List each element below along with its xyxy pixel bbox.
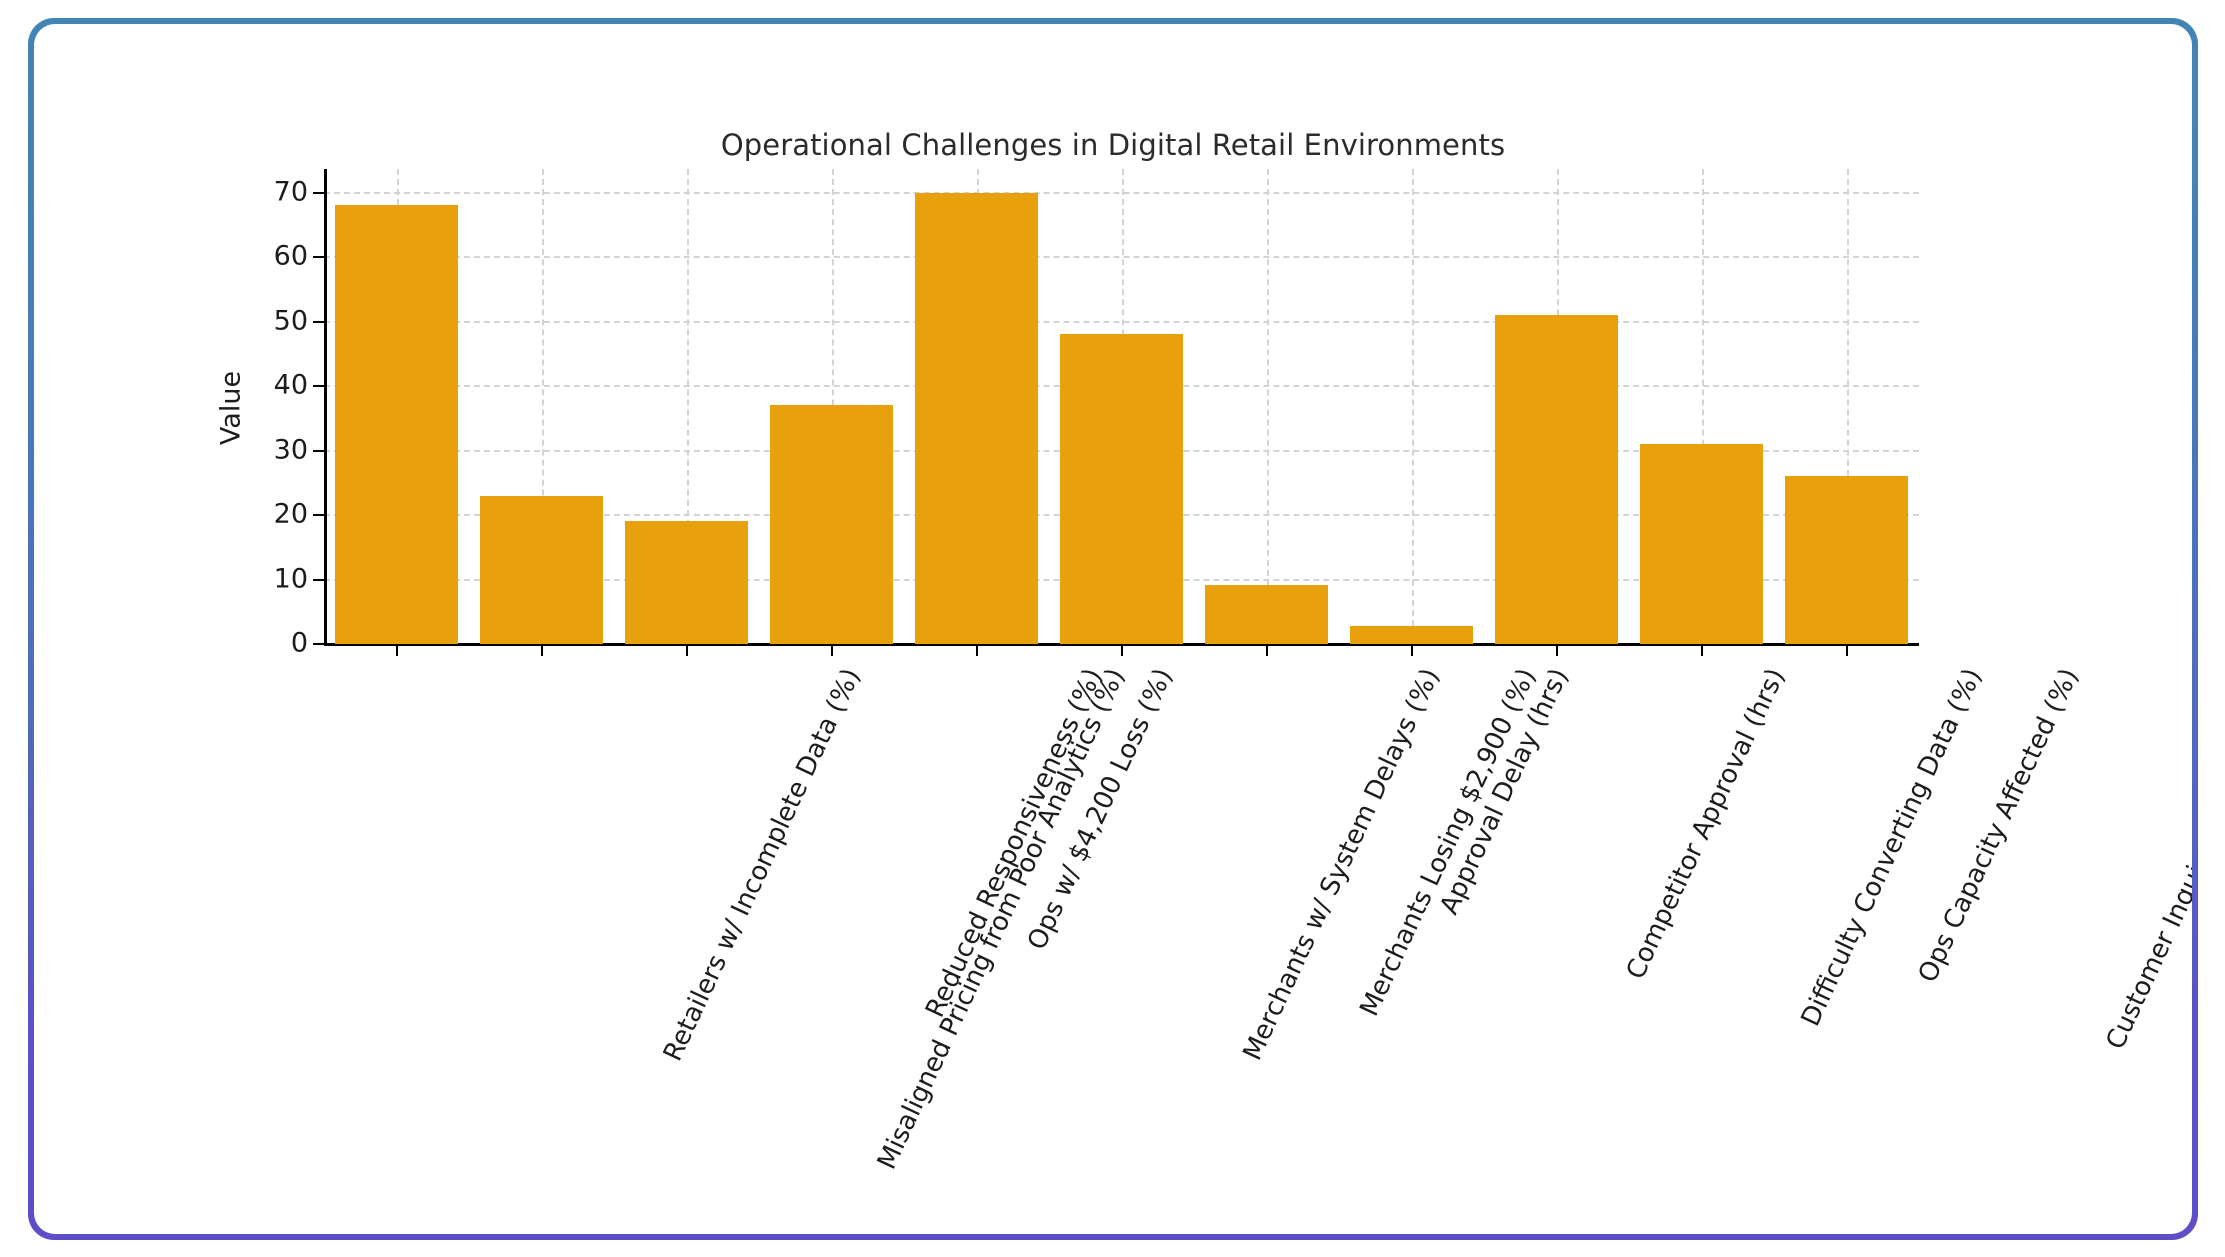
y-axis-tick-mark: [313, 192, 324, 194]
y-axis-tick-label: 40: [274, 370, 308, 401]
y-axis-tick-mark: [313, 256, 324, 258]
x-axis-tick-label: Difficulty Converting Data (%): [1795, 664, 1987, 1031]
x-axis-tick-mark: [1121, 646, 1123, 656]
x-axis-tick-label: Merchants w/ System Delays (%): [1237, 664, 1445, 1065]
y-axis-tick-label: 70: [274, 176, 308, 207]
y-axis-tick-label: 30: [274, 434, 308, 465]
bar[interactable]: [1350, 626, 1474, 644]
y-axis-tick-label: 10: [274, 563, 308, 594]
x-axis-tick-mark: [541, 646, 543, 656]
y-axis-tick-mark: [313, 385, 324, 387]
bar[interactable]: [1205, 585, 1329, 644]
x-axis-tick-mark: [976, 646, 978, 656]
x-axis-tick-mark: [831, 646, 833, 656]
x-axis-tick-mark: [1411, 646, 1413, 656]
y-axis-tick-label: 50: [274, 305, 308, 336]
x-axis-tick-mark: [1556, 646, 1558, 656]
y-axis-tick-label: 0: [291, 628, 308, 659]
x-axis-tick-mark: [1701, 646, 1703, 656]
x-axis-tick-mark: [1266, 646, 1268, 656]
y-axis-tick-label: 20: [274, 499, 308, 530]
window-frame: Operational Challenges in Digital Retail…: [28, 18, 2198, 1240]
bar-chart-figure: Operational Challenges in Digital Retail…: [34, 24, 2192, 1234]
y-axis-spine: [324, 169, 327, 646]
bar[interactable]: [1785, 476, 1909, 644]
x-axis-tick-mark: [1846, 646, 1848, 656]
y-axis-tick-mark: [313, 450, 324, 452]
bar[interactable]: [480, 496, 604, 644]
y-axis-tick-mark: [313, 579, 324, 581]
x-axis-tick-label: Customer Inquiry Reduction (%): [2100, 664, 2192, 1054]
bar[interactable]: [335, 205, 459, 644]
bar[interactable]: [1495, 315, 1619, 644]
x-axis-tick-mark: [686, 646, 688, 656]
bar[interactable]: [625, 521, 749, 644]
gridline-vertical: [1412, 169, 1414, 646]
x-axis-tick-label: Retailers w/ Incomplete Data (%): [657, 664, 866, 1066]
x-axis-tick-label: Competitor Approval (hrs): [1620, 664, 1790, 984]
y-axis-label: Value: [216, 370, 247, 444]
bar[interactable]: [770, 405, 894, 644]
y-axis-tick-label: 60: [274, 241, 308, 272]
plot-area: Value 010203040506070 Retailers w/ Incom…: [324, 169, 1919, 646]
bar[interactable]: [1640, 444, 1764, 644]
x-axis-tick-mark: [396, 646, 398, 656]
page-title: Operational Challenges in Digital Retail…: [34, 128, 2192, 162]
gridline-vertical: [1267, 169, 1269, 646]
figure-canvas: Operational Challenges in Digital Retail…: [34, 24, 2192, 1234]
bar[interactable]: [915, 193, 1039, 644]
x-axis-tick-label: Merchants Losing $2,900 (%): [1354, 664, 1542, 1021]
y-axis-tick-mark: [313, 321, 324, 323]
y-axis-tick-mark: [313, 643, 324, 645]
y-axis-tick-mark: [313, 514, 324, 516]
x-axis-tick-label: Misaligned Pricing from Poor Analytics (…: [871, 664, 1130, 1174]
bar[interactable]: [1060, 334, 1184, 644]
